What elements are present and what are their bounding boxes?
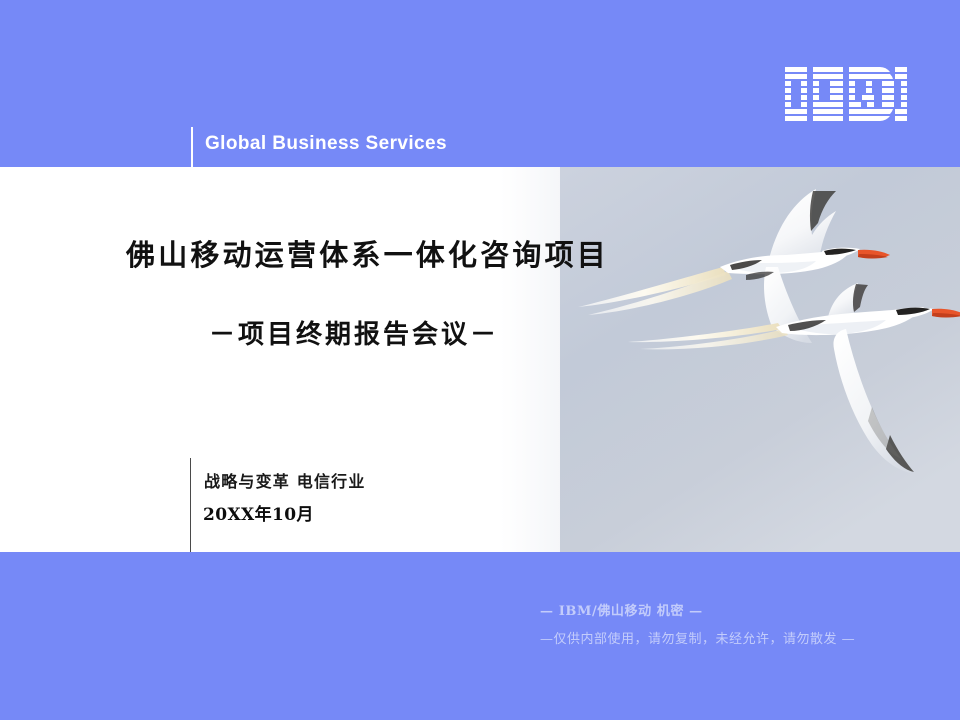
business-unit-label: Global Business Services	[205, 133, 447, 155]
page-title: 佛山移动运营体系一体化咨询项目	[126, 232, 616, 274]
presentation-slide: Global Business Services	[0, 0, 960, 720]
tropicbirds-photo	[560, 167, 960, 552]
page-subtitle: －项目终期报告会议－	[209, 314, 629, 351]
confidentiality-line-1: — IBM/佛山移动 机密 —	[540, 600, 960, 619]
confidentiality-line-2: —仅供内部使用，请勿复制，未经允许，请勿散发 —	[540, 628, 960, 647]
date-label: 20XX年10月	[203, 500, 314, 525]
brand-divider	[191, 127, 193, 167]
confidentiality-notice: — IBM/佛山移动 机密 — —仅供内部使用，请勿复制，未经允许，请勿散发 —	[540, 600, 960, 647]
ibm-logo-icon	[784, 66, 908, 122]
department-label: 战略与变革 电信行业	[204, 468, 366, 492]
author-divider	[190, 458, 191, 552]
